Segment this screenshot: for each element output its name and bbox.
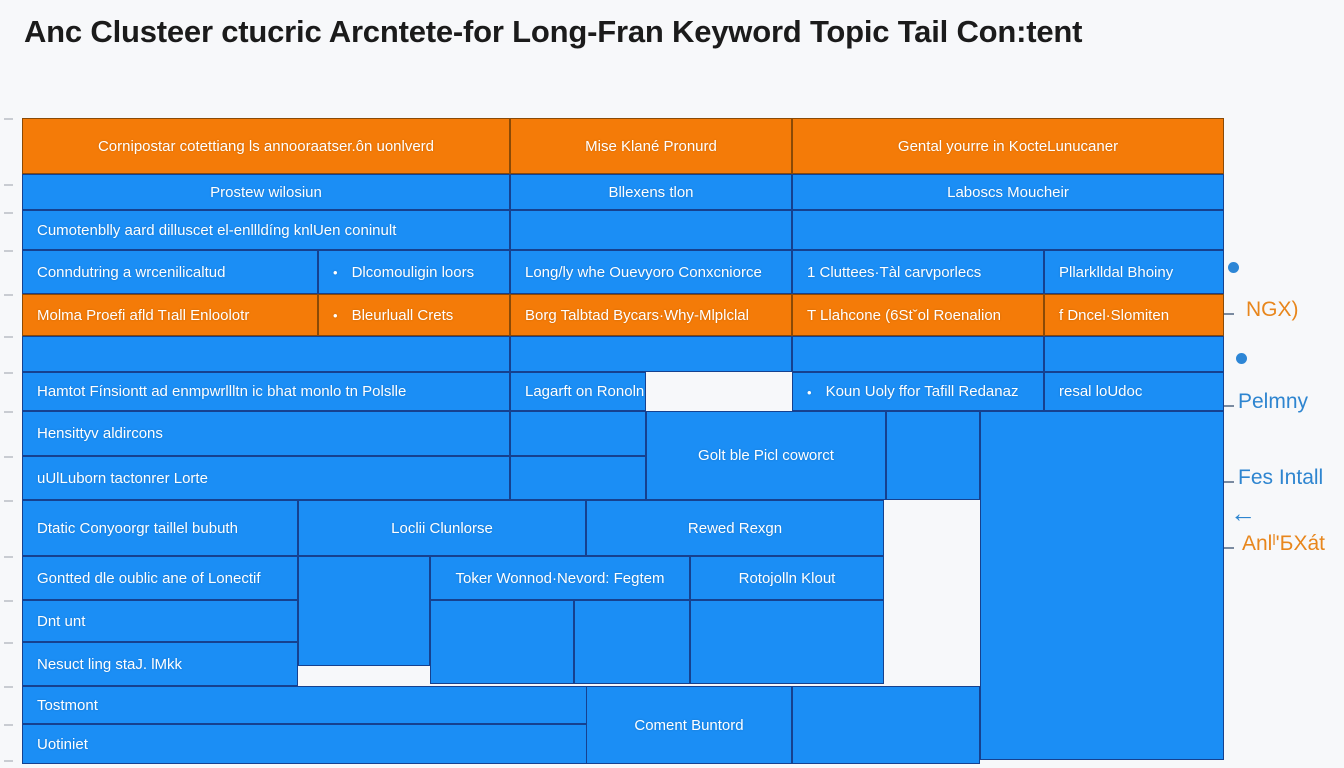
table-row-highlight: f Dncel·Slomiten: [1044, 294, 1224, 336]
annotation-label-2: Fes Intall: [1238, 466, 1323, 490]
outer-group-container: [980, 411, 1224, 760]
table-row: Pllarklldal Bhoiny: [1044, 250, 1224, 294]
table-row: Coment Buntord: [586, 686, 792, 764]
table-row: Long/ly whe Ouevyoro Conxcniorce: [510, 250, 792, 294]
table-row: Toker Wonnod·Nevord: Fegtem: [430, 556, 690, 600]
annotation-label-0: NGX): [1246, 298, 1299, 322]
table-row: uUlLuborn tactonrer Lorte: [22, 456, 510, 500]
table-row-highlight: T Llahcone (6Stˇol Roenalion: [792, 294, 1044, 336]
annotation-label-1: Pelmny: [1238, 390, 1308, 414]
table-row: Hamtot Fínsiontt ad enmpwrllltn ic bhat…: [22, 372, 510, 411]
table-row: [298, 556, 430, 666]
table-header-cell: Cornipostar cotettiang ls annooraatser.ô…: [22, 118, 510, 174]
ruler-tick: [4, 212, 13, 214]
cell-text: Koun Uoly ffor Tafill Redanaz: [793, 383, 1043, 400]
ruler-tick: [4, 556, 13, 558]
cell-text: Borg Talbtad Bycars·Why-Mlplclal: [511, 307, 791, 324]
ruler-tick: [4, 250, 13, 252]
ruler-tick: [4, 686, 13, 688]
table-row: Rewed Rexgn: [586, 500, 884, 556]
ruler-tick: [4, 294, 13, 296]
bullet-dot-icon: [1228, 262, 1239, 273]
ruler-tick: [4, 372, 13, 374]
table-row-highlight: Molma Proefi afld Tıall Enloolotr: [22, 294, 318, 336]
table-row: [510, 456, 646, 500]
cell-text: Prostew wilosiun: [23, 184, 509, 201]
table-row: resal loUdoc: [1044, 372, 1224, 411]
nested-block: [574, 600, 690, 684]
cell-text: Bleurluall Crets: [319, 307, 509, 324]
ruler-tick: [4, 456, 13, 458]
cell-text: Loclii Clunlorse: [299, 520, 585, 537]
nested-block: [690, 600, 884, 684]
table-row-highlight: Borg Talbtad Bycars·Why-Mlplclal: [510, 294, 792, 336]
cell-text: uUlLuborn tactonrer Lorte: [23, 470, 509, 487]
table-row: [1044, 336, 1224, 372]
ruler-tick: [4, 600, 13, 602]
cell-text: Golt ble Picl coworct: [647, 447, 885, 464]
cell-text: Cornipostar cotettiang ls annooraatser.ô…: [23, 138, 509, 155]
cell-text: Lagarft on Ronoln Commevyon: [511, 383, 646, 400]
table-header-cell: Mise Klané Pronurd: [510, 118, 792, 174]
table-row: [510, 411, 646, 456]
table-row: Conndutring a wrcenilicaltud: [22, 250, 318, 294]
dash-marker-icon: [1224, 313, 1234, 315]
cell-text: T Llahcone (6Stˇol Roenalion: [793, 307, 1043, 324]
dash-marker-icon: [1224, 405, 1234, 407]
cell-text: Rewed Rexgn: [587, 520, 883, 537]
dash-marker-icon: [1224, 481, 1234, 483]
table-row: Nesuct ling staJ. lMkk: [22, 642, 298, 686]
cell-text: Conndutring a wrcenilicaltud: [23, 264, 317, 281]
ruler-tick: [4, 500, 13, 502]
cell-text: f Dncel·Slomiten: [1045, 307, 1223, 324]
cell-text: Gental yourre in KocteLunucaner: [793, 138, 1223, 155]
annotation-rail: NGX) Pelmny Fes Intall ← Anlˡ'БXát: [1224, 110, 1344, 768]
table-row: Bllexens tlon: [510, 174, 792, 210]
table-row: Lagarft on Ronoln Commevyon: [510, 372, 646, 411]
cell-text: Dlcomouligin loors: [319, 264, 509, 281]
cell-text: Laboscs Moucheir: [793, 184, 1223, 201]
table-row: Hensitty‎v aldircons: [22, 411, 510, 456]
cell-text: Hamtot Fínsiontt ad enmpwrllltn ic bhat…: [23, 383, 509, 400]
cell-text: Long/ly whe Ouevyoro Conxcniorce: [511, 264, 791, 281]
table-row: [22, 336, 510, 372]
table-row: Laboscs Moucheir: [792, 174, 1224, 210]
cell-text: Dtatic Conyoorgr taillel bubuth: [23, 520, 297, 537]
cell-text: Dnt unt: [23, 613, 297, 630]
table-row: [510, 336, 792, 372]
table-row: [510, 210, 792, 250]
table-row: [792, 336, 1044, 372]
table-row: 1 Cluttees·Tàl carvporlecs: [792, 250, 1044, 294]
ruler-tick: [4, 118, 13, 120]
cell-text: Nesuct ling staJ. lMkk: [23, 656, 297, 673]
cell-text: Mise Klané Pronurd: [511, 138, 791, 155]
left-arrow-icon: ←: [1230, 500, 1256, 526]
table-row: Loclii Clunlorse: [298, 500, 586, 556]
cell-text: Rotojolln Klout: [691, 570, 883, 587]
bullet-dot-icon: [1236, 353, 1247, 364]
cell-text: resal loUdoc: [1045, 383, 1223, 400]
table-row: [792, 686, 980, 764]
dash-marker-icon: [1224, 547, 1234, 549]
table-row: Koun Uoly ffor Tafill Redanaz: [792, 372, 1044, 411]
ruler-tick: [4, 760, 13, 762]
cell-text: Molma Proefi afld Tıall Enloolotr: [23, 307, 317, 324]
table-row: Cumotenblly aard dilluscet el-enllldíng…: [22, 210, 510, 250]
cell-text: Coment Buntord: [587, 717, 791, 734]
table-row: Rotojolln Klout: [690, 556, 884, 600]
diagram-canvas: Cornipostar cotettiang ls annooraatser.ô…: [0, 0, 1344, 768]
cell-text: 1 Cluttees·Tàl carvporlecs: [793, 264, 1043, 281]
ruler-tick: [4, 336, 13, 338]
table-row-highlight: Bleurluall Crets: [318, 294, 510, 336]
annotation-label-3: Anlˡ'БXát: [1242, 532, 1325, 556]
table-row: Prostew wilosiun: [22, 174, 510, 210]
table-row: Gontted dle oublic ane of Lonectif: [22, 556, 298, 600]
nested-block: [430, 600, 574, 684]
table-row: Dnt unt: [22, 600, 298, 642]
cell-text: Gontted dle oublic ane of Lonectif: [23, 570, 297, 587]
cell-text: Toker Wonnod·Nevord: Fegtem: [431, 570, 689, 587]
ruler-tick: [4, 184, 13, 186]
table-row: Dlcomouligin loors: [318, 250, 510, 294]
cell-text: Hensitty‎v aldircons: [23, 425, 509, 442]
nested-block: [886, 411, 980, 500]
cell-text: Cumotenblly aard dilluscet el-enllldíng…: [23, 222, 509, 239]
table-header-cell: Gental yourre in KocteLunucaner: [792, 118, 1224, 174]
table-row: Dtatic Conyoorgr taillel bubuth: [22, 500, 298, 556]
cell-text: Bllexens tlon: [511, 184, 791, 201]
table-row: [792, 210, 1224, 250]
cell-text: Pllarklldal Bhoiny: [1045, 264, 1223, 281]
ruler-tick: [4, 724, 13, 726]
nested-block: Golt ble Picl coworct: [646, 411, 886, 500]
ruler-tick: [4, 642, 13, 644]
ruler-tick: [4, 411, 13, 413]
